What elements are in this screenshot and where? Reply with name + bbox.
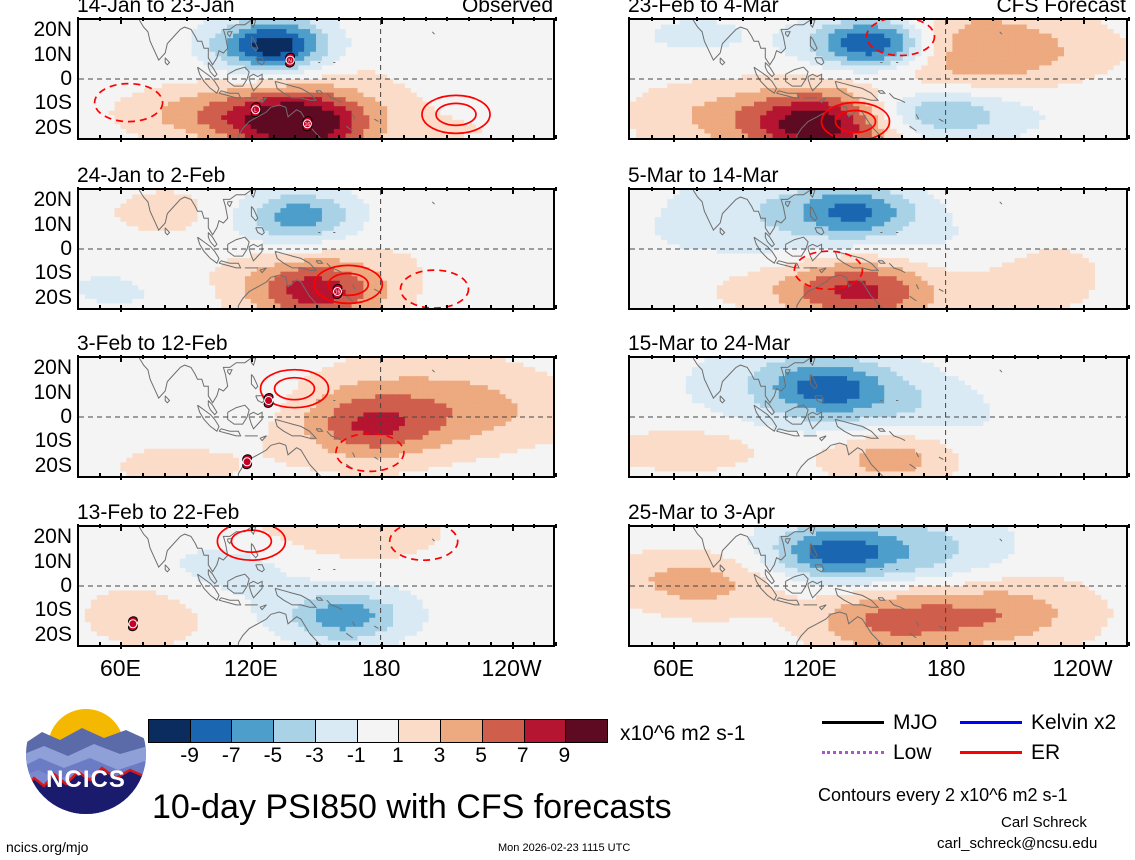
axis-tick [316,355,318,359]
axis-tick [923,524,925,528]
x-axis-labels-right: 60E120E180120W [0,657,1135,683]
axis-tick [742,135,744,139]
axis-tick [923,642,925,646]
axis-tick [969,642,971,646]
x-tick-label: 120E [783,657,837,680]
axis-tick [810,135,812,142]
axis-tick [1060,524,1062,528]
axis-tick [186,473,188,477]
legend-line-swatch [822,751,884,754]
axis-tick [855,355,857,359]
axis-tick [381,355,383,362]
axis-tick [359,473,361,477]
axis-tick [294,17,296,21]
axis-tick [251,135,253,142]
axis-tick [810,524,812,531]
map-panel-r1-c1 [628,188,1128,310]
axis-tick [468,524,470,528]
colorbar-units-label: x10^6 m2 s-1 [620,723,745,744]
axis-tick [468,355,470,359]
axis-tick [207,473,209,477]
axis-tick [764,17,766,21]
axis-tick [446,187,448,191]
axis-tick [855,642,857,646]
axis-tick [1014,642,1016,646]
axis-tick [490,473,492,477]
map-field-r0-c0: NL16 [79,20,553,138]
axis-tick [273,524,275,528]
axis-tick [878,17,880,21]
colorbar-tick-label: -1 [347,745,366,766]
axis-tick [764,305,766,309]
axis-tick [1060,135,1062,139]
colorbar [148,719,608,743]
axis-tick [719,473,721,477]
axis-tick [186,17,188,21]
axis-tick [316,17,318,21]
axis-tick [787,135,789,139]
axis-tick [403,642,405,646]
axis-tick [673,135,675,142]
axis-tick [992,17,994,21]
axis-tick [381,473,383,480]
axis-tick [273,355,275,359]
axis-tick [99,187,101,191]
axis-tick [164,135,166,139]
axis-tick [338,17,340,21]
colorbar-swatch [149,720,190,742]
axis-tick [338,305,340,309]
axis-tick [651,17,653,21]
axis-tick [833,187,835,191]
legend-label: ER [1031,742,1060,763]
axis-tick [316,473,318,477]
axis-tick [855,305,857,309]
axis-tick [446,355,448,359]
axis-tick [186,305,188,309]
axis-tick [120,305,122,312]
axis-tick [696,524,698,528]
axis-tick [555,355,557,359]
axis-tick [969,187,971,191]
axis-tick [1105,187,1107,191]
axis-tick [99,17,101,21]
axis-tick [719,135,721,139]
axis-tick [142,642,144,646]
axis-tick [294,135,296,139]
axis-tick [1105,17,1107,21]
axis-tick [1083,17,1085,24]
axis-tick [923,473,925,477]
logo-text: NCICS [24,766,148,794]
axis-tick [673,473,675,480]
axis-tick [787,473,789,477]
axis-tick [901,355,903,359]
map-field-r0-c1 [630,20,1126,138]
map-field-r2-c1 [630,358,1126,476]
panel-title-r3-c1: 25-Mar to 3-Apr [628,502,775,523]
colorbar-tick-label: 1 [392,745,404,766]
axis-tick [490,524,492,528]
legend-item-kelvin-x2: Kelvin x2 [960,712,1116,733]
axis-tick [742,355,744,359]
axis-tick [425,305,427,309]
axis-tick [294,642,296,646]
axis-tick [742,187,744,191]
axis-tick [142,17,144,21]
axis-tick [294,305,296,309]
axis-tick [207,524,209,528]
axis-tick [901,473,903,477]
axis-tick [810,17,812,24]
axis-tick [338,355,340,359]
axis-tick [77,524,79,528]
y-tick-label: 10S [35,430,72,451]
axis-tick [1105,355,1107,359]
colorbar-tick-label: 9 [559,745,571,766]
axis-tick [359,524,361,528]
axis-tick [1083,473,1085,480]
axis-tick [878,473,880,477]
axis-tick [294,473,296,477]
axis-tick [673,355,675,362]
axis-tick [1060,355,1062,359]
axis-tick [229,473,231,477]
axis-tick [1014,135,1016,139]
site-url: ncics.org/mjo [6,840,88,854]
colorbar-tick-label: 3 [434,745,446,766]
axis-tick [251,187,253,194]
axis-tick [490,187,492,191]
axis-tick [403,187,405,191]
axis-tick [1014,305,1016,309]
y-tick-label: 0 [60,406,72,427]
y-tick-label: 10N [33,214,72,235]
axis-tick [1037,187,1039,191]
axis-tick [425,642,427,646]
axis-tick [651,355,653,359]
axis-tick [833,17,835,21]
map-panel-r0-c0: NL16 [77,18,555,140]
axis-tick [833,135,835,139]
legend-item-low: Low [822,742,932,763]
axis-tick [764,524,766,528]
axis-tick [810,473,812,480]
axis-tick [992,135,994,139]
y-tick-label: 20S [35,117,72,138]
axis-tick [878,642,880,646]
axis-tick [969,17,971,21]
axis-tick [120,355,122,362]
axis-tick [164,305,166,309]
axis-tick [120,135,122,142]
axis-tick [855,524,857,528]
axis-tick [207,187,209,191]
y-tick-label: 10N [33,382,72,403]
axis-tick [533,187,535,191]
colorbar-tick-label: -7 [222,745,241,766]
axis-tick [186,135,188,139]
axis-tick [77,473,79,477]
column-header-observed: Observed [462,0,553,16]
axis-tick [359,17,361,21]
axis-tick [992,187,994,191]
axis-tick [468,642,470,646]
axis-tick [425,135,427,139]
column-header-forecast: CFS Forecast [996,0,1126,16]
axis-tick [696,135,698,139]
legend-label: Kelvin x2 [1031,712,1116,733]
axis-tick [251,305,253,312]
svg-text:L: L [254,108,257,114]
axis-tick [186,187,188,191]
axis-tick [251,473,253,480]
colorbar-swatch [398,720,440,742]
axis-tick [99,135,101,139]
axis-tick [142,187,144,191]
axis-tick [1083,187,1085,194]
y-tick-label: 20S [35,455,72,476]
axis-tick [316,305,318,309]
axis-tick [207,305,209,309]
axis-tick [878,524,880,528]
axis-tick [359,305,361,309]
axis-tick [1037,305,1039,309]
axis-tick [512,187,514,194]
axis-tick [338,524,340,528]
colorbar-tick-label: 7 [517,745,529,766]
axis-tick [742,524,744,528]
x-tick-label: 120W [1052,657,1112,680]
axis-tick [1014,17,1016,21]
axis-tick [855,17,857,21]
axis-tick [1037,642,1039,646]
axis-tick [946,473,948,480]
main-title: 10-day PSI850 with CFS forecasts [152,790,672,824]
x-tick-label: 180 [927,657,965,680]
axis-tick [855,187,857,191]
axis-tick [425,524,427,528]
axis-tick [810,355,812,362]
axis-tick [673,305,675,312]
colorbar-swatch [565,720,607,742]
axis-tick [969,524,971,528]
axis-tick [359,135,361,139]
axis-tick [901,187,903,191]
axis-tick [1060,17,1062,21]
axis-tick [338,642,340,646]
axis-tick [207,17,209,21]
map-panel-r1-c0: 16 [77,188,555,310]
axis-tick [164,355,166,359]
axis-tick [719,642,721,646]
map-panel-r3-c0 [77,525,555,647]
axis-tick [1037,17,1039,21]
axis-tick [696,473,698,477]
axis-tick [403,355,405,359]
axis-tick [338,473,340,477]
y-tick-label: 10S [35,262,72,283]
axis-tick [1060,305,1062,309]
colorbar-swatch [231,720,273,742]
axis-tick [651,642,653,646]
axis-tick [77,355,79,359]
legend-item-mjo: MJO [822,712,937,733]
axis-tick [1060,187,1062,191]
axis-tick [164,187,166,191]
axis-tick [628,524,630,528]
axis-tick [855,135,857,139]
axis-tick [533,17,535,21]
axis-tick [901,524,903,528]
axis-tick [186,524,188,528]
axis-tick [294,524,296,528]
axis-tick [403,17,405,21]
axis-tick [490,135,492,139]
axis-tick [229,135,231,139]
axis-tick [468,135,470,139]
axis-tick [901,305,903,309]
axis-tick [229,187,231,191]
axis-tick [512,642,514,649]
axis-tick [810,642,812,649]
axis-tick [164,524,166,528]
axis-tick [316,524,318,528]
axis-tick [207,135,209,139]
axis-tick [512,524,514,531]
axis-tick [533,473,535,477]
axis-tick [1014,524,1016,528]
map-field-r3-c0 [79,527,553,645]
axis-tick [833,642,835,646]
axis-tick [403,524,405,528]
axis-tick [787,642,789,646]
axis-tick [533,135,535,139]
legend-line-swatch [822,721,884,724]
colorbar-swatch [440,720,482,742]
axis-tick [992,305,994,309]
axis-tick [787,17,789,21]
axis-tick [120,187,122,194]
axis-tick [316,187,318,191]
axis-tick [878,355,880,359]
axis-tick [969,135,971,139]
author-email: carl_schreck@ncsu.edu [937,836,1097,851]
axis-tick [555,17,557,21]
axis-tick [446,524,448,528]
axis-tick [1105,642,1107,646]
axis-tick [878,135,880,139]
axis-tick [1014,473,1016,477]
axis-tick [992,473,994,477]
axis-tick [901,135,903,139]
axis-tick [628,355,630,359]
axis-tick [992,642,994,646]
axis-tick [946,355,948,362]
axis-tick [273,187,275,191]
y-tick-label: 20N [33,189,72,210]
axis-tick [359,642,361,646]
axis-tick [628,305,630,309]
legend-label: Low [893,742,932,763]
axis-tick [533,355,535,359]
timestamp: Mon 2026-02-23 1115 UTC [498,843,630,854]
axis-tick [1060,473,1062,477]
axis-tick [1083,642,1085,649]
axis-tick [533,524,535,528]
axis-tick [696,187,698,191]
axis-tick [1037,355,1039,359]
y-tick-label: 20N [33,357,72,378]
axis-tick [251,355,253,362]
axis-tick [77,17,79,21]
axis-tick [923,187,925,191]
x-tick-label: 60E [653,657,694,680]
axis-tick [207,642,209,646]
axis-tick [446,642,448,646]
axis-tick [923,305,925,309]
axis-tick [992,524,994,528]
axis-tick [120,642,122,649]
axis-tick [359,355,361,359]
axis-tick [555,135,557,139]
y-axis-labels-row2: 20N10N010S20S [0,356,76,478]
colorbar-tick-label: -5 [264,745,283,766]
axis-tick [512,305,514,312]
axis-tick [696,642,698,646]
axis-tick [1128,642,1130,646]
ncics-logo: NCICS [24,692,148,816]
axis-tick [142,524,144,528]
axis-tick [251,17,253,24]
y-tick-label: 0 [60,575,72,596]
axis-tick [651,473,653,477]
map-panel-r2-c0 [77,356,555,478]
axis-tick [901,17,903,21]
colorbar-swatch [357,720,399,742]
axis-tick [787,187,789,191]
axis-tick [555,305,557,309]
axis-tick [381,524,383,531]
panel-title-r3-c0: 13-Feb to 22-Feb [77,502,239,523]
axis-tick [1128,17,1130,21]
y-tick-label: 20N [33,19,72,40]
axis-tick [381,642,383,649]
axis-tick [273,642,275,646]
axis-tick [425,187,427,191]
axis-tick [316,642,318,646]
axis-tick [490,305,492,309]
axis-tick [164,17,166,21]
y-axis-labels-row0: 20N10N010S20S [0,18,76,140]
axis-tick [923,135,925,139]
axis-tick [628,187,630,191]
axis-tick [99,642,101,646]
y-axis-labels-row1: 20N10N010S20S [0,188,76,310]
colorbar-swatch [315,720,357,742]
axis-tick [1128,135,1130,139]
axis-tick [403,305,405,309]
axis-tick [77,305,79,309]
axis-tick [142,473,144,477]
axis-tick [512,135,514,142]
axis-tick [742,305,744,309]
axis-tick [742,17,744,21]
axis-tick [490,355,492,359]
y-tick-label: 20S [35,624,72,645]
axis-tick [99,305,101,309]
legend-label: MJO [893,712,937,733]
